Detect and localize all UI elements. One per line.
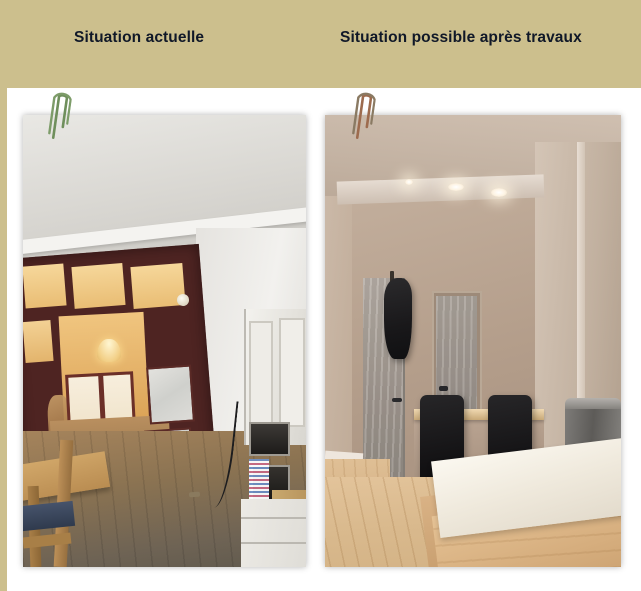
drawer-seam-2 (241, 542, 306, 544)
base-cabinets (241, 499, 306, 567)
header-band: Situation actuelle Situation possible ap… (0, 0, 641, 88)
drawer-seam-1 (241, 517, 306, 519)
hall-door-handle (392, 398, 402, 403)
wall-light-icon (177, 293, 190, 306)
scene-before-hallway (23, 115, 306, 567)
niche-door-handle (439, 386, 448, 391)
photo-before[interactable] (23, 115, 306, 567)
appliance-top (565, 398, 621, 410)
pendant-lamp (97, 339, 121, 363)
transom-glass-1 (23, 264, 67, 310)
hanging-coat (384, 278, 412, 359)
frosted-glass-top (146, 364, 195, 424)
cabinet-door-1 (249, 321, 273, 425)
caption-before: Situation actuelle (74, 29, 204, 47)
microwave-oven (249, 422, 290, 456)
caption-after: Situation possible après travaux (340, 29, 582, 47)
kitchen-towel (249, 459, 269, 500)
transom-glass-4 (23, 320, 54, 363)
transom-glass-2 (71, 263, 125, 309)
scene-after-renovation (325, 115, 621, 567)
recessed-spotlight-icon (405, 179, 413, 185)
cabinet-door-2 (279, 318, 304, 426)
slide-root: Situation actuelle Situation possible ap… (0, 0, 641, 591)
photo-after[interactable] (325, 115, 621, 567)
recessed-spotlight-icon (491, 188, 507, 197)
